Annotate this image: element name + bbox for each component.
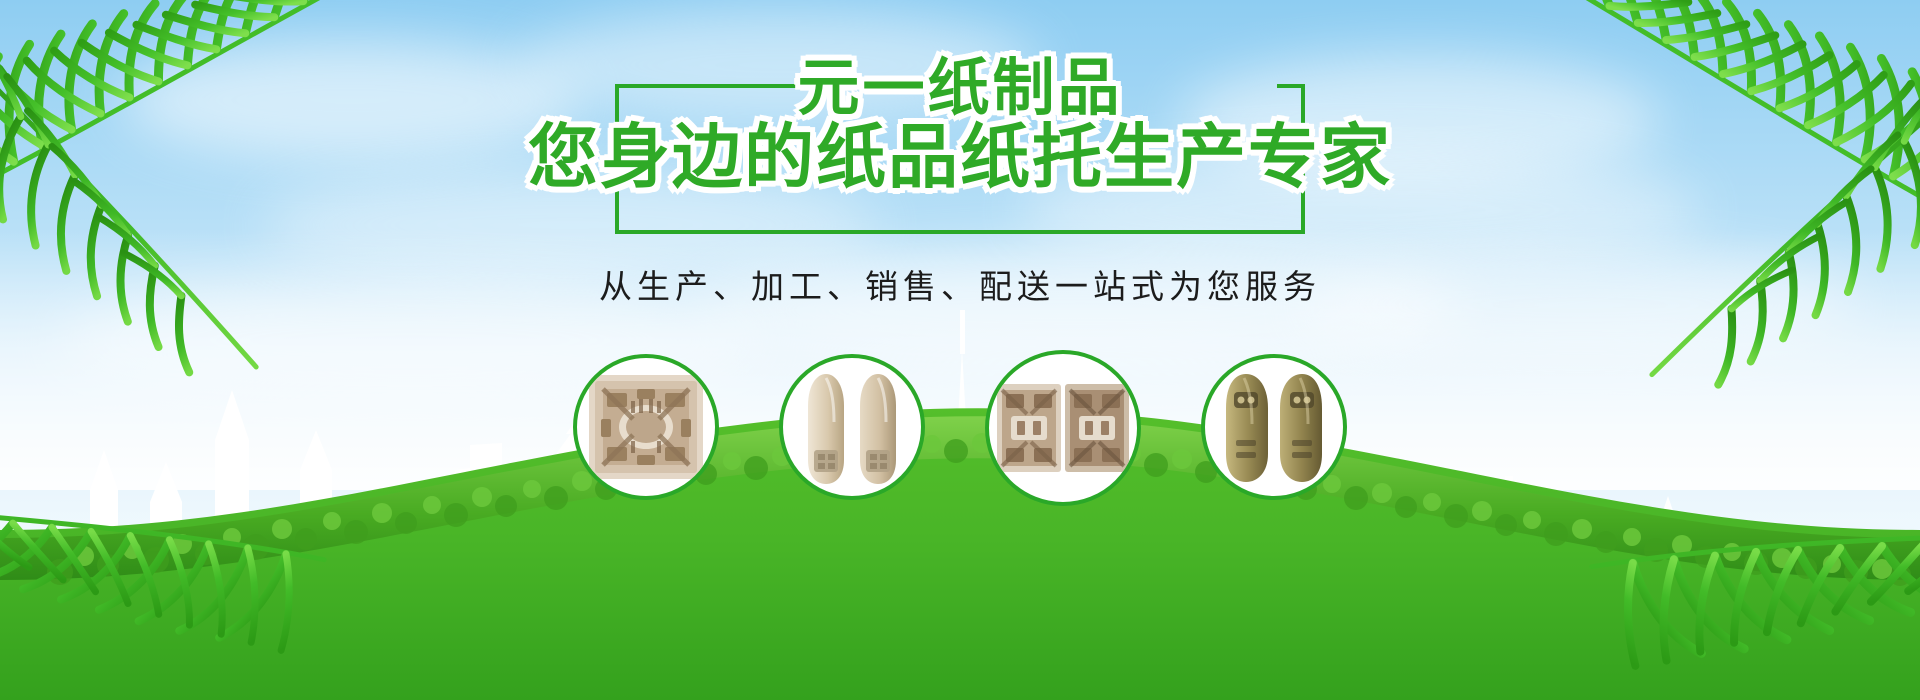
- molded-pulp-square-tray-icon: [587, 371, 705, 483]
- product-circle-molded-pulp-square-tray[interactable]: [573, 354, 719, 500]
- headline-line-1: 元一纸制品: [797, 56, 1122, 119]
- product-circle-molded-pulp-double-tray[interactable]: [985, 350, 1141, 506]
- title-stack: 元一纸制品 您身边的纸品纸托生产专家: [528, 56, 1392, 195]
- molded-pulp-double-cavity-tray-icon: [997, 380, 1129, 476]
- product-circle-molded-pulp-shoe-inserts[interactable]: [1201, 354, 1347, 500]
- molded-pulp-shoe-trees-icon: [800, 364, 904, 490]
- molded-pulp-shoe-inserts-icon: [1220, 368, 1328, 486]
- product-circle-row: [0, 354, 1920, 506]
- headline-line-2: 您身边的纸品纸托生产专家: [528, 121, 1392, 195]
- subtitle-text: 从生产、加工、销售、配送一站式为您服务: [599, 260, 1321, 308]
- headline-frame: 元一纸制品 您身边的纸品纸托生产专家: [615, 84, 1305, 234]
- headline-block: 元一纸制品 您身边的纸品纸托生产专家 从生产、加工、销售、配送一站式为您服务: [0, 84, 1920, 308]
- promo-banner: 元一纸制品 您身边的纸品纸托生产专家 从生产、加工、销售、配送一站式为您服务: [0, 0, 1920, 700]
- product-circle-molded-pulp-shoe-trees[interactable]: [779, 354, 925, 500]
